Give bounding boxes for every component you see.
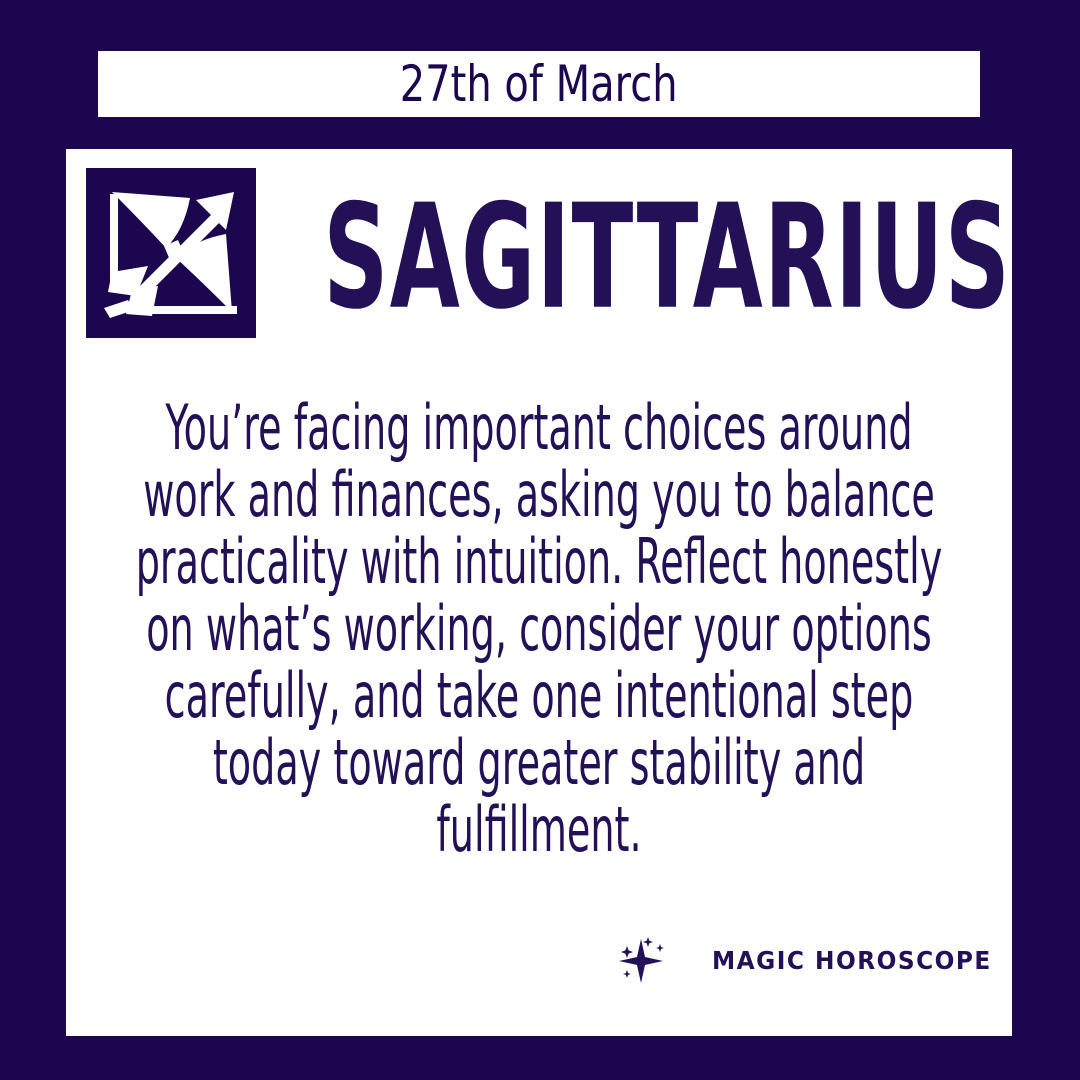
date-header-bar: 27th of March	[98, 51, 980, 117]
sign-name-label: SAGITTARIUS	[323, 186, 1011, 330]
brand-name-label: MAGIC HOROSCOPE	[712, 948, 992, 973]
sign-header: SAGITTARIUS	[86, 168, 992, 340]
horoscope-poster: 27th of March	[0, 0, 1080, 1080]
horoscope-body: You’re facing important choices around w…	[116, 394, 962, 863]
date-label: 27th of March	[400, 59, 678, 109]
horoscope-card: SAGITTARIUS You’re facing important choi…	[66, 149, 1012, 1036]
horoscope-text: You’re facing important choices around w…	[116, 394, 962, 863]
sagittarius-bow-and-arrow-icon	[86, 168, 256, 338]
brand-logo: MAGIC HOROSCOPE	[636, 932, 992, 988]
sign-name: SAGITTARIUS	[342, 178, 992, 338]
sparkle-star-icon	[615, 935, 677, 985]
